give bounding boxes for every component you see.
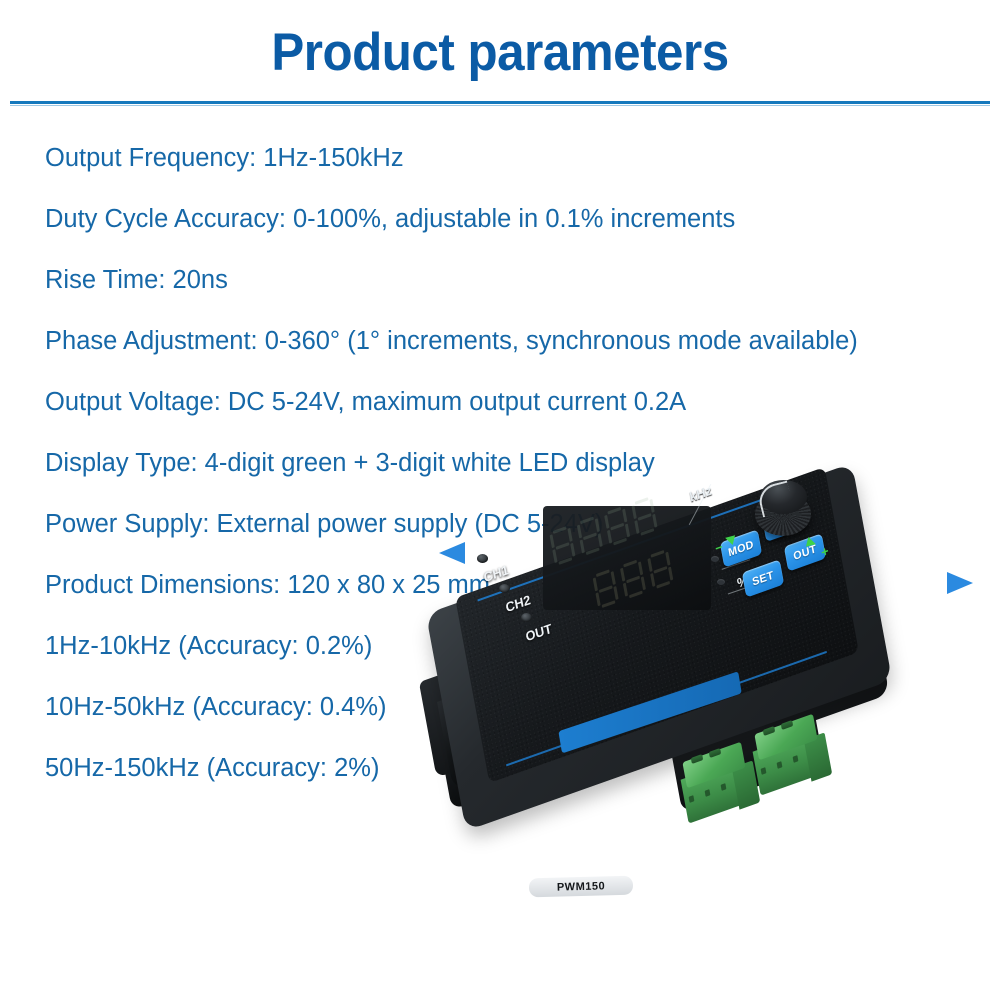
spec-line-output-voltage: Output Voltage: DC 5-24V, maximum output… [45, 372, 975, 433]
seven-segment-digit [576, 515, 603, 556]
seven-segment-digit [619, 558, 646, 599]
accent-triangle-right-icon [947, 572, 973, 594]
spec-line-rise-time: Rise Time: 20ns [45, 250, 975, 311]
model-badge-label: PWM150 [557, 880, 606, 893]
title-divider-rule-soft [10, 105, 990, 106]
spec-line-output-frequency: Output Frequency: 1Hz-150kHz [45, 128, 975, 189]
unit-label-khz: kHz [688, 482, 713, 504]
rotary-knob[interactable] [747, 480, 821, 554]
accent-triangle-left-icon [439, 542, 465, 564]
spec-line-duty-cycle-accuracy: Duty Cycle Accuracy: 0-100%, adjustable … [45, 189, 975, 250]
title-divider-rule [10, 101, 990, 104]
product-parameters-page: Product parameters Output Frequency: 1Hz… [0, 0, 1000, 1000]
spec-line-phase-adjustment: Phase Adjustment: 0-360° (1° increments,… [45, 311, 975, 372]
unit-indicator-dot-percent [717, 579, 725, 585]
page-title: Product parameters [35, 22, 965, 83]
set-button-label: SET [751, 569, 775, 588]
seven-segment-digit [631, 496, 658, 537]
unit-indicator-dot-degree [711, 556, 719, 562]
model-badge: PWM150 [529, 876, 633, 898]
indicator-lamp-out [521, 613, 532, 622]
indicator-lamp-ch2 [499, 584, 510, 593]
seven-segment-digit [604, 506, 631, 547]
indicator-lamp-ch1 [477, 554, 488, 563]
product-photo-pwm150: PWM150 [425, 480, 985, 900]
